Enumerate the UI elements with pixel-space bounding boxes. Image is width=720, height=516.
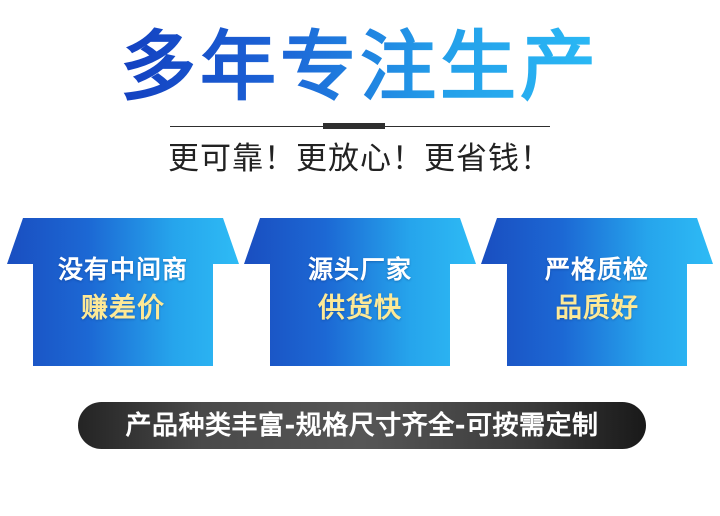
feature-card-line2: 品质好 bbox=[481, 290, 713, 328]
feature-card-line2: 供货快 bbox=[244, 290, 476, 328]
promo-banner: 多年专注生产 更可靠！更放心！更省钱！ bbox=[0, 0, 720, 516]
feature-cards: 没有中间商 赚差价 源头厂家 供货快 bbox=[0, 216, 720, 368]
feature-card-line2: 赚差价 bbox=[7, 290, 239, 328]
tagline-pill: 产品种类丰富-规格尺寸齐全-可按需定制 bbox=[78, 402, 646, 449]
tagline-text: 产品种类丰富-规格尺寸齐全-可按需定制 bbox=[125, 411, 598, 441]
headline-container: 多年专注生产 bbox=[0, 22, 720, 112]
feature-card-line1: 源头厂家 bbox=[244, 252, 476, 288]
feature-card-strict-qc: 严格质检 品质好 bbox=[481, 216, 713, 368]
subtitle-container: 更可靠！更放心！更省钱！ bbox=[0, 138, 720, 180]
divider-center-block bbox=[323, 123, 385, 129]
subtitle-text: 更可靠！更放心！更省钱！ bbox=[168, 138, 552, 180]
feature-card-text: 严格质检 品质好 bbox=[481, 252, 713, 328]
feature-card-no-middleman: 没有中间商 赚差价 bbox=[7, 216, 239, 368]
feature-card-line1: 没有中间商 bbox=[7, 252, 239, 288]
feature-card-text: 源头厂家 供货快 bbox=[244, 252, 476, 328]
feature-card-source-factory: 源头厂家 供货快 bbox=[244, 216, 476, 368]
headline-text: 多年专注生产 bbox=[120, 22, 600, 112]
feature-card-text: 没有中间商 赚差价 bbox=[7, 252, 239, 328]
feature-card-line1: 严格质检 bbox=[481, 252, 713, 288]
divider bbox=[170, 123, 550, 130]
